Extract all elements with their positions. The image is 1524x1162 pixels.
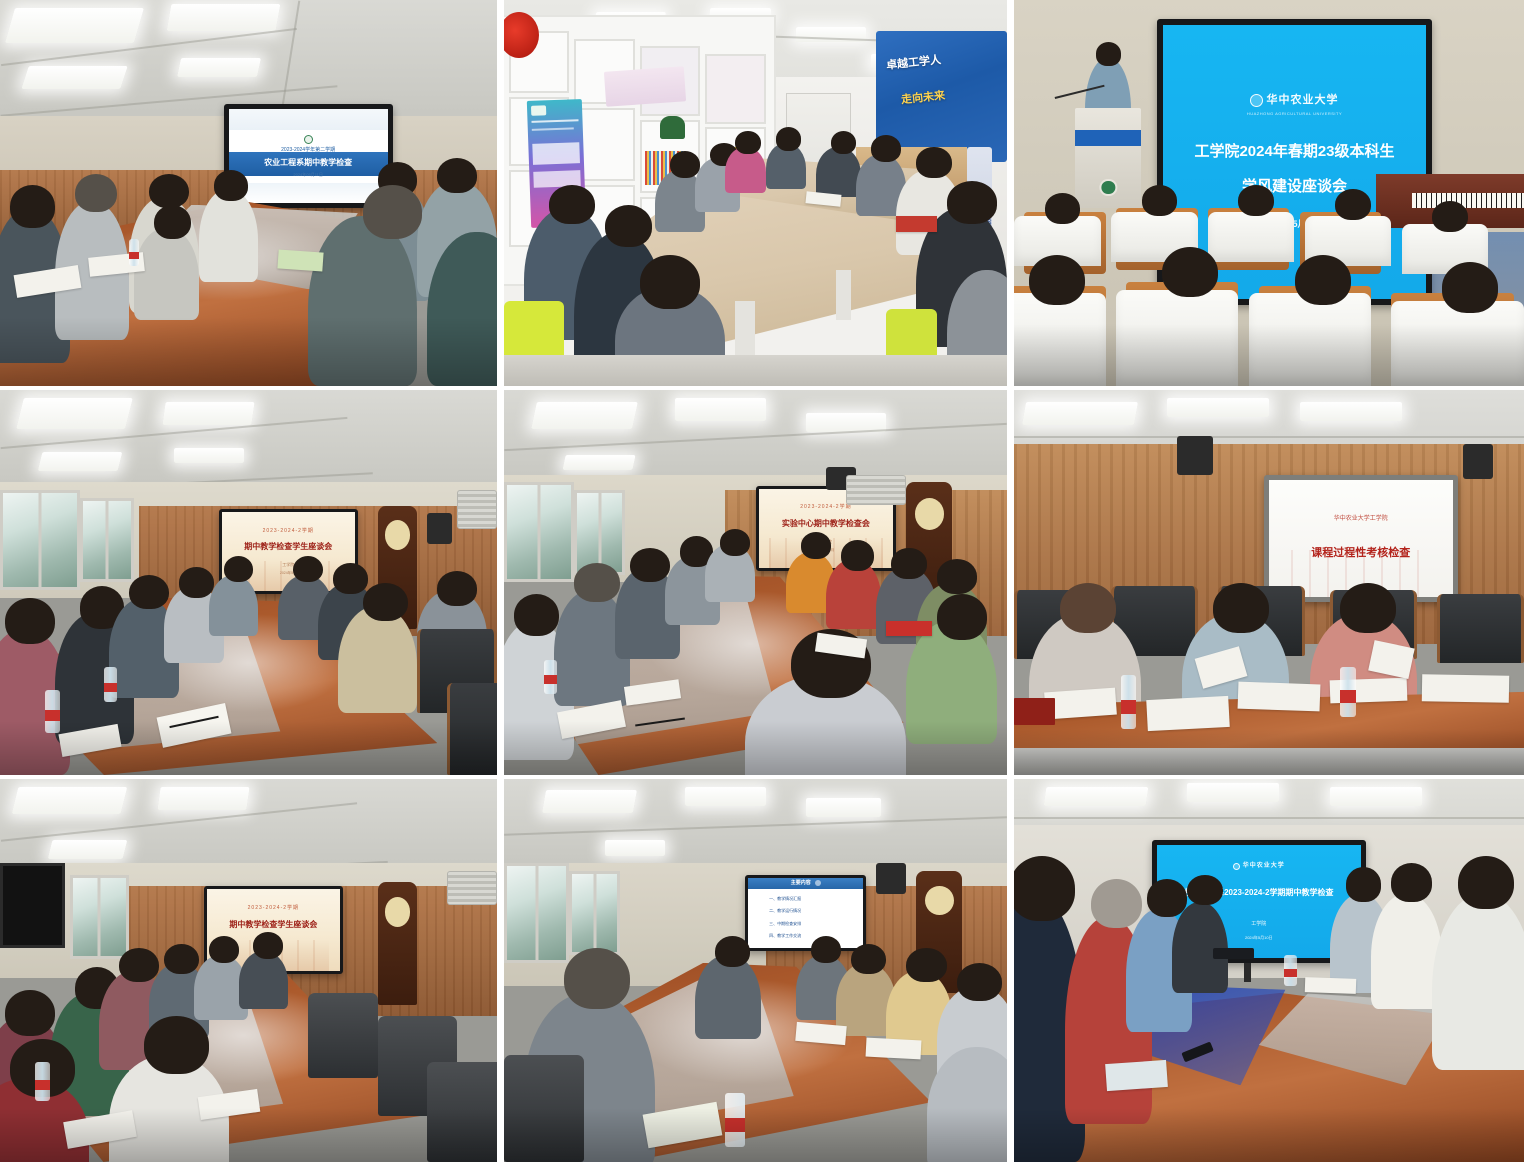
ceiling-light — [21, 66, 128, 89]
person-head — [129, 575, 169, 610]
seated-person — [1432, 894, 1524, 1070]
ceiling-light — [174, 448, 244, 463]
photo-panel-6[interactable]: 华中农业大学工学院 课程过程性考核检查 — [1014, 390, 1524, 775]
slide-line-1: 2023-2024学年第二学期 — [264, 147, 352, 154]
photo-panel-7[interactable]: 2023-2024-2学期 期中教学检查学生座谈会 工学院 2024年5月 — [0, 779, 497, 1162]
person-head — [871, 135, 901, 162]
ceiling-grid-line — [1014, 817, 1524, 819]
ceiling-light — [806, 798, 881, 817]
person-head — [640, 255, 700, 309]
document-on-table — [886, 621, 931, 636]
person-head — [154, 205, 191, 240]
ceiling-light — [1043, 787, 1148, 806]
ceiling-light — [675, 398, 766, 421]
ceiling-light — [5, 8, 144, 43]
seated-person — [816, 147, 861, 197]
photo-collage: 2023-2024学年第二学期 农业工程系期中教学检查 2024年05月11日 — [0, 0, 1524, 1162]
person-head — [937, 594, 987, 640]
window — [504, 863, 569, 963]
person-head — [514, 594, 559, 636]
person-head — [735, 131, 760, 154]
person-head — [670, 151, 700, 178]
hzau-seal-icon — [1100, 179, 1117, 196]
phone — [1213, 948, 1254, 959]
ceiling-light — [1022, 402, 1138, 425]
water-bottle — [35, 1062, 50, 1100]
person-head — [1213, 583, 1269, 633]
slide-line-1: 工学院2024年春期23级本科生 — [1194, 141, 1394, 163]
person-head — [5, 990, 55, 1036]
ceiling-light — [177, 58, 261, 77]
ceiling-light — [563, 455, 637, 470]
slide-line-1: 2023-2024-2学期 — [263, 528, 314, 535]
photo-panel-4[interactable]: 2023-2024-2学期 期中教学检查学生座谈会 工学院 2024年5月 — [0, 390, 497, 775]
wall-tv — [0, 863, 65, 947]
university-logo-icon: 华中农业大学 — [1250, 93, 1338, 109]
ceiling-light — [542, 790, 637, 813]
window — [569, 871, 619, 955]
person-head — [906, 948, 946, 982]
person-head — [574, 563, 619, 602]
audience-head — [1142, 185, 1178, 216]
person-head — [75, 174, 117, 213]
piano-keys — [1412, 193, 1524, 208]
person-head — [119, 948, 159, 982]
slide-content: 2023-2024学年第二学期 农业工程系期中教学检查 2024年05月11日 — [229, 109, 388, 203]
document-on-table — [866, 1038, 922, 1060]
person-head — [363, 583, 408, 622]
document-on-table — [278, 249, 324, 271]
photo-panel-1[interactable]: 2023-2024学年第二学期 农业工程系期中教学检查 2024年05月11日 — [0, 0, 497, 386]
university-logo-en: HUAZHONG AGRICULTURAL UNIVERSITY — [1247, 111, 1342, 117]
window — [70, 875, 130, 959]
red-folder — [1014, 698, 1055, 725]
person-head — [831, 131, 856, 154]
audience-head — [1045, 193, 1081, 224]
university-logo-text: 华中农业大学 — [1266, 93, 1338, 109]
water-bottle — [544, 660, 557, 695]
window — [574, 490, 624, 575]
water-bottle — [1284, 955, 1297, 986]
water-bottle — [45, 690, 60, 732]
seat-cover — [1014, 293, 1106, 386]
seated-person — [308, 216, 417, 386]
document-on-table — [1304, 977, 1356, 994]
person-head — [144, 1016, 209, 1073]
person-head — [564, 948, 629, 1009]
document-on-table — [1422, 674, 1509, 702]
person-head — [437, 158, 477, 193]
person-head — [1091, 879, 1142, 929]
person-head — [5, 598, 55, 644]
slide-line-2: 农业工程系期中教学检查 — [264, 157, 352, 169]
document-on-table — [1146, 696, 1229, 731]
ceiling-light — [796, 27, 866, 42]
slide-content: 主要内容 一、教学情况汇报 二、教学运行情况 三、中期检查安排 四、教学工作交流 — [748, 878, 863, 949]
office-chair — [427, 1062, 497, 1162]
seated-person — [239, 951, 289, 1008]
seat-cover — [1116, 290, 1238, 387]
window — [80, 498, 135, 583]
person-head — [179, 567, 214, 598]
person-head — [776, 127, 801, 150]
seated-person — [134, 228, 199, 321]
audience-head — [1442, 262, 1498, 312]
table-leg — [735, 301, 755, 363]
window — [504, 482, 574, 582]
floor — [504, 355, 1007, 386]
person-head — [437, 571, 477, 606]
screen-cable — [1244, 963, 1252, 982]
slide-header-text: 主要内容 — [791, 880, 811, 887]
ceiling-light — [12, 787, 128, 814]
ceiling-light — [47, 840, 126, 859]
person-head — [214, 170, 249, 201]
office-chair — [447, 683, 497, 775]
slide-content: 华中农业大学工学院 课程过程性考核检查 — [1269, 480, 1453, 597]
office-chair — [504, 1055, 584, 1162]
university-logo-text: 华中农业大学 — [1243, 862, 1285, 871]
seated-person — [209, 575, 259, 637]
ceiling-grid-line — [1014, 436, 1524, 438]
notebook-on-table — [1105, 1060, 1168, 1091]
shelf-sign — [603, 67, 686, 107]
water-bottle — [104, 667, 116, 702]
ceiling-light — [162, 402, 255, 425]
lectern — [1075, 108, 1141, 208]
seat-cover — [1249, 293, 1371, 386]
ceiling-light — [16, 398, 133, 429]
table-edge — [1014, 748, 1524, 775]
document-on-table — [896, 216, 936, 231]
slide-header: 主要内容 — [748, 878, 863, 889]
water-bottle — [129, 239, 139, 266]
person-head — [720, 529, 750, 556]
photo-panel-2[interactable]: 卓越工学人 走向未来 我的青春因奋斗而精彩 明天华农以我为荣 — [504, 0, 1007, 386]
person-head — [811, 936, 841, 963]
audience-head — [1162, 247, 1218, 297]
grandfather-clock — [378, 882, 418, 1005]
seat-cover — [1208, 212, 1295, 262]
table-leg — [836, 270, 851, 320]
person-head — [363, 185, 423, 239]
clock-face — [915, 498, 944, 529]
slide-line-2: 实验中心期中教学检查会 — [782, 518, 870, 530]
shelf-cell — [705, 54, 765, 123]
person-head — [1060, 583, 1116, 633]
presentation-screen-panel-8: 主要内容 一、教学情况汇报 二、教学运行情况 三、中期检查安排 四、教学工作交流 — [745, 875, 866, 952]
office-chair — [308, 993, 378, 1077]
shelf-plant — [660, 116, 685, 139]
water-bottle — [1340, 667, 1355, 717]
person-head — [209, 936, 239, 963]
slide-line-1: 华中农业大学工学院 — [1334, 515, 1388, 524]
air-vent — [447, 871, 497, 905]
air-vent — [846, 475, 906, 506]
ceiling-light — [1187, 783, 1279, 802]
presentation-screen-panel-1: 2023-2024学年第二学期 农业工程系期中教学检查 2024年05月11日 — [224, 104, 393, 208]
person-head — [947, 181, 997, 223]
wall-speaker — [427, 513, 452, 544]
audience-head — [1432, 201, 1468, 232]
person-head — [605, 205, 653, 247]
person-head — [630, 548, 670, 583]
photo-panel-3[interactable]: 华中农业大学 HUAZHONG AGRICULTURAL UNIVERSITY … — [1014, 0, 1524, 386]
seat-cover — [1391, 301, 1524, 386]
person-head — [164, 944, 199, 975]
office-chair — [1437, 594, 1524, 663]
slide-line-2: 课程过程性考核检查 — [1311, 546, 1410, 562]
seated-person — [695, 955, 760, 1039]
person-head — [957, 963, 1002, 1001]
photo-panel-5[interactable]: 2023-2024-2学期 实验中心期中教学检查会 工学院 2024年5月 — [504, 390, 1007, 775]
clock-face — [385, 897, 410, 926]
photo-panel-9[interactable]: 华中农业大学 机械工程系2023-2024-2学期期中教学检查 工学院 2024… — [1014, 779, 1524, 1162]
audience-head — [1295, 255, 1351, 305]
slide-line-1: 2023-2024-2学期 — [800, 504, 851, 511]
ceiling-light — [1330, 787, 1422, 806]
person-head — [801, 532, 831, 559]
slide-line-2: 工学院 — [1251, 921, 1266, 928]
slide-line-1: 2023-2024-2学期 — [248, 905, 299, 912]
air-vent — [457, 490, 497, 529]
wall-speaker — [1177, 436, 1213, 475]
ceiling-light — [531, 402, 637, 429]
university-logo-icon: 华中农业大学 — [1233, 862, 1285, 871]
audience-head — [1238, 185, 1274, 216]
wall-speaker — [1463, 444, 1494, 479]
agenda-item-2: 二、教学运行情况 — [769, 908, 863, 914]
agenda-item-3: 三、中期检查安排 — [769, 921, 863, 927]
audience-head — [1335, 189, 1371, 220]
clock-face — [385, 520, 410, 550]
agenda-item-1: 一、教学情况汇报 — [769, 896, 863, 902]
clock-face — [925, 886, 954, 915]
person-head — [1014, 856, 1075, 921]
person-head — [224, 556, 254, 583]
person-head — [1458, 856, 1514, 910]
audience-head — [1029, 255, 1085, 305]
water-bottle — [725, 1093, 745, 1147]
hzau-seal-icon — [815, 880, 821, 886]
person-head — [851, 944, 886, 975]
slide-line-2: 期中教学检查学生座谈会 — [229, 919, 317, 931]
seated-person — [906, 621, 997, 744]
person-head — [1340, 583, 1396, 633]
wall-speaker — [876, 863, 906, 894]
ceiling-light — [1167, 398, 1269, 417]
speaker-head — [1096, 42, 1122, 65]
person-head — [1391, 863, 1432, 901]
seated-person — [199, 189, 259, 282]
person-head — [937, 559, 977, 594]
person-head — [549, 185, 594, 224]
person-head — [916, 147, 951, 178]
water-bottle — [1121, 675, 1136, 729]
ceiling-light — [685, 787, 765, 806]
person-head — [1147, 879, 1188, 917]
ceiling-light — [1300, 402, 1402, 421]
university-logo-icon — [264, 135, 352, 144]
person-head — [715, 936, 750, 967]
person-head — [149, 174, 189, 209]
slide-line-2: 期中教学检查学生座谈会 — [244, 541, 332, 553]
person-head — [333, 563, 368, 594]
slide-line-3: 2024年05月11日 — [264, 172, 352, 178]
slide-line-3: 2024年5月10日 — [1245, 935, 1273, 941]
person-head — [253, 932, 283, 959]
ceiling-light — [37, 452, 121, 471]
person-head — [10, 185, 55, 227]
document-on-table — [1238, 681, 1320, 711]
person-head — [1346, 867, 1382, 901]
person-head — [841, 540, 874, 571]
ceiling-light — [167, 4, 281, 31]
window — [0, 490, 80, 590]
person-head — [1187, 875, 1223, 906]
person-head — [891, 548, 926, 579]
ceiling-light — [605, 840, 665, 855]
person-head — [293, 556, 323, 583]
ceiling-light — [157, 787, 250, 810]
photo-panel-8[interactable]: 主要内容 一、教学情况汇报 二、教学运行情况 三、中期检查安排 四、教学工作交流 — [504, 779, 1007, 1162]
